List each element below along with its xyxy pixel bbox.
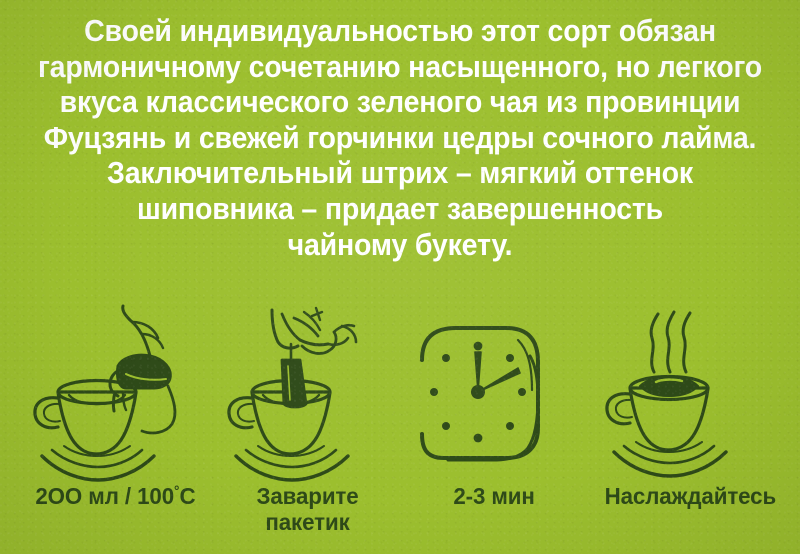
brewing-instructions: 2ОО мл / 100°С [0,300,800,554]
description-line: Своей индивидуальностью этот сорт обязан [26,14,774,50]
kettle-pouring-into-cup-icon [22,300,210,485]
description-line: Фуцзянь и свежей горчинки цедры сочного … [26,121,774,157]
description-line: вкуса классического зеленого чая из пров… [26,85,774,121]
description-line: гармоничному сочетанию насыщенного, но л… [26,50,774,86]
brewing-step-water: 2ОО мл / 100°С [18,300,206,509]
description-line: чайному букету. [26,228,774,264]
step-caption-text: 2ОО мл / 100 [36,483,175,509]
step-caption-text: 2-3 мин [453,483,534,509]
step-caption-text: Заварите [257,483,359,509]
step-caption-text: Наслаждайтесь [604,483,776,509]
tea-package-back-panel: Своей индивидуальностью этот сорт обязан… [0,0,800,554]
description-line: Заключительный штрих – мягкий оттенок [26,156,774,192]
step-caption-text-line2: пакетик [257,509,359,535]
clock-icon [400,294,588,479]
product-description: Своей индивидуальностью этот сорт обязан… [26,14,774,263]
hand-dipping-teabag-icon [216,300,404,485]
description-line: шиповника – придает завершенность [26,192,774,228]
brewing-step-enjoy: Наслаждайтесь [594,300,782,509]
step-caption: 2ОО мл / 100°С [36,483,196,509]
step-caption-tail: С [180,483,196,509]
steaming-cup-icon [594,296,782,481]
step-caption: 2-3 мин [453,483,534,509]
step-caption: Наслаждайтесь [604,483,776,509]
brewing-step-teabag: Заварите пакетик [210,300,398,535]
brewing-step-time: 2-3 мин [402,300,590,509]
step-caption: Заварите пакетик [257,483,359,535]
